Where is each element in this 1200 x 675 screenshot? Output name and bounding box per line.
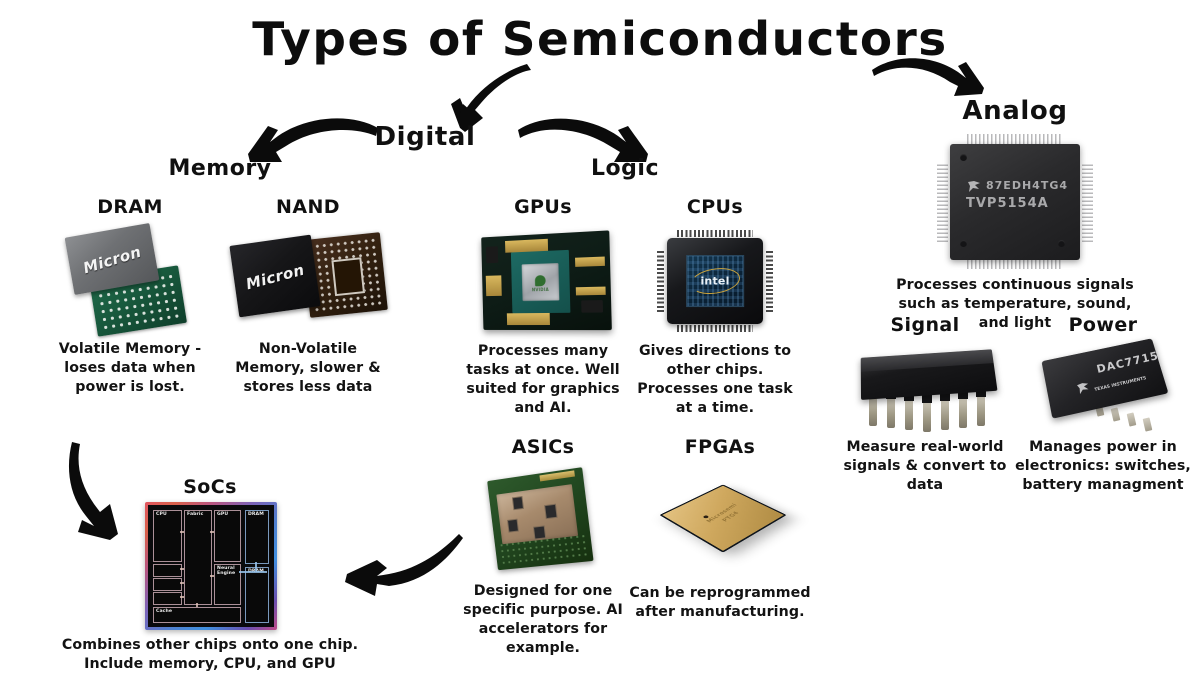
card-power-description: Manages power in electronics: switches, … [1006, 438, 1200, 495]
card-power-title: Power [1028, 314, 1178, 336]
gpu-substrate: NVIDIA [511, 250, 571, 313]
qfp-pins-right [1082, 162, 1093, 242]
gold-contact [575, 286, 605, 295]
card-signal-description: Measure real-world signals & convert to … [833, 438, 1017, 495]
card-dram-title: DRAM [55, 196, 205, 218]
dip-pin [887, 396, 895, 428]
card-nand: NAND Micron Non-Volatile Memory, slower … [228, 196, 388, 218]
asic-board [487, 467, 593, 570]
texas-instruments-logo-icon [966, 180, 982, 194]
analog-qfp-package: 87EDH4TG4 TVP5154A [950, 144, 1080, 260]
soc-block-fabric: Fabric [184, 510, 212, 605]
gold-contact [486, 276, 502, 297]
card-gpus-description: Processes many tasks at once. Well suite… [458, 342, 628, 418]
infographic-canvas: Types of Semiconductors Digital Memory D… [0, 0, 1200, 675]
gpu-module-image: NVIDIA [474, 230, 614, 334]
intel-wordmark: intel [700, 274, 729, 287]
dip-pin [941, 398, 949, 430]
soc-block-label: DRAM [248, 512, 264, 517]
soc-block-label: Cache [156, 609, 172, 614]
soc-block-label: CPU [156, 512, 167, 517]
asic-die-window [545, 504, 558, 519]
dram-chip-image: Micron [55, 226, 205, 336]
asic-connector [539, 470, 575, 482]
soic-pin [1143, 417, 1153, 431]
qfp-corner-dimple [960, 154, 967, 161]
page-title: Types of Semiconductors [0, 12, 1200, 66]
card-dram: DRAM Micron Volatile Memory - loses data… [55, 196, 205, 218]
analog-chip-image: 87EDH4TG4 TVP5154A [935, 132, 1095, 272]
soc-interconnect [210, 575, 214, 577]
soc-block-label: Fabric [187, 512, 203, 517]
soc-block-core [153, 564, 182, 577]
soc-interconnect [180, 568, 184, 570]
soc-interconnect [180, 582, 184, 584]
qfp-corner-dimple [960, 240, 967, 247]
micron-wordmark: Micron [81, 243, 143, 278]
dip-package-top-face [861, 349, 994, 371]
soc-block-label: Neural Engine [217, 566, 240, 577]
soc-block-dram-bottom: DRAM [245, 567, 269, 623]
dip-pin [923, 400, 931, 432]
gpu-die: NVIDIA [522, 263, 559, 301]
micron-wordmark: Micron [244, 261, 306, 294]
cpu-die: intel [686, 255, 744, 307]
card-socs: SoCs CPU Fabric GPU Ne [130, 476, 290, 498]
soc-block-label: GPU [217, 512, 228, 517]
soc-floorplan-diagram: CPU Fabric GPU Neural Engine [145, 502, 277, 630]
nand-die-outline [331, 258, 365, 296]
card-fpgas: FPGAs Microsemi PTG4 Can be reprogrammed… [650, 436, 790, 458]
card-fpgas-description: Can be reprogrammed after manufacturing. [618, 584, 822, 622]
soic-pin [1111, 407, 1121, 421]
arrow-logic-to-socs [325, 528, 465, 608]
card-socs-title: SoCs [130, 476, 290, 498]
card-asics: ASICs Designed for one specific purpose.… [468, 436, 618, 458]
nvidia-logo-icon [535, 275, 546, 286]
soic-pin [1127, 412, 1137, 426]
soc-interconnect [255, 562, 257, 571]
analog-chip-marking-line2: TVP5154A [966, 196, 1049, 211]
gpu-board: NVIDIA [481, 230, 612, 330]
card-nand-title: NAND [228, 196, 388, 218]
cpu-pins-bottom [677, 325, 753, 332]
card-cpus-title: CPUs [645, 196, 785, 218]
cpu-pins-right [766, 250, 773, 312]
card-nand-description: Non-Volatile Memory, slower & stores les… [228, 340, 388, 397]
nand-chip-image: Micron [228, 226, 388, 336]
dip-pin [959, 396, 967, 428]
power-soic-image: DAC7715 TEXAS INSTRUMENTS [1032, 342, 1182, 446]
board-component [581, 300, 603, 312]
soc-block-core [153, 592, 182, 605]
card-socs-description: Combines other chips onto one chip. Incl… [55, 636, 365, 674]
soc-block-gpu: GPU [214, 510, 241, 562]
soc-block-neural-engine: Neural Engine [214, 564, 241, 605]
branch-label-digital: Digital [345, 122, 505, 152]
card-signal: Signal Measure real-world signals & conv… [845, 314, 1005, 336]
branch-label-memory: Memory [145, 156, 295, 181]
gold-contact [575, 256, 605, 266]
soc-block-cache: Cache [153, 607, 241, 623]
signal-dip-image [853, 342, 1003, 446]
card-power: Power DAC7715 TEXAS INSTRUMENTS Manages … [1028, 314, 1178, 336]
soc-interconnect [210, 531, 214, 533]
card-fpgas-title: FPGAs [650, 436, 790, 458]
soc-interconnect [196, 603, 198, 607]
card-dram-description: Volatile Memory - loses data when power … [49, 340, 211, 397]
soc-block-cpu: CPU [153, 510, 182, 562]
soc-interconnect [239, 571, 267, 573]
soc-block-core [153, 578, 182, 591]
fpga-gold-lid: Microsemi PTG4 [659, 484, 786, 552]
branch-label-analog: Analog [940, 96, 1090, 126]
qfp-corner-dimple [1058, 240, 1065, 247]
cpu-chip-image: intel [653, 226, 777, 338]
card-cpus: CPUs intel Gives directions to other chi… [645, 196, 785, 218]
soc-block-dram-top: DRAM [245, 510, 269, 564]
analog-chip-marking-line1: 87EDH4TG4 [986, 179, 1068, 192]
qfp-pins-left [937, 162, 948, 242]
asic-die-window [507, 518, 519, 532]
card-signal-title: Signal [845, 314, 1005, 336]
soc-interconnect [180, 531, 184, 533]
board-component [486, 246, 498, 263]
card-gpus-title: GPUs [468, 196, 618, 218]
cpu-package: intel [667, 238, 763, 324]
asic-module-image [482, 468, 606, 574]
soc-die-area: CPU Fabric GPU Neural Engine [148, 505, 274, 627]
dip-pin [905, 398, 913, 430]
soc-interconnect [180, 596, 184, 598]
nand-micron-package: Micron [229, 235, 320, 318]
dip-pin [977, 394, 985, 426]
card-asics-description: Designed for one specific purpose. AI ac… [456, 582, 630, 658]
fpga-chip-image: Microsemi PTG4 [646, 476, 796, 572]
card-asics-title: ASICs [468, 436, 618, 458]
fpga-marking: Microsemi PTG4 [704, 502, 748, 527]
nvidia-wordmark: NVIDIA [532, 287, 549, 292]
cpu-pins-top [677, 230, 753, 237]
gold-contact [507, 313, 550, 326]
cpu-pins-left [657, 250, 664, 312]
branch-label-logic: Logic [550, 156, 700, 181]
card-cpus-description: Gives directions to other chips. Process… [627, 342, 803, 418]
asic-die-window [511, 496, 523, 511]
card-gpus: GPUs NVIDIA Processes many tasks at once… [468, 196, 618, 218]
